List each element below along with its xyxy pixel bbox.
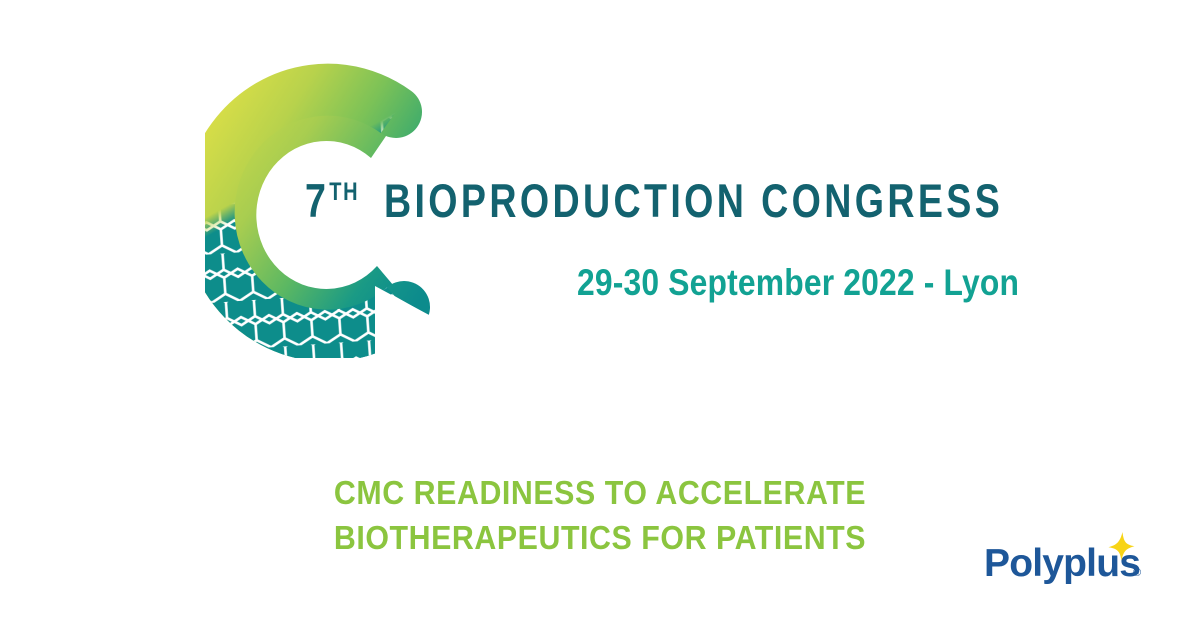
tagline-line-1: CMC READINESS TO ACCELERATE [48, 470, 1152, 515]
registered-trademark-symbol: ® [1133, 568, 1141, 579]
congress-title-block: 7TH BIOPRODUCTION CONGRESS 29-30 Septemb… [305, 166, 995, 227]
title-ordinal-suffix: TH [329, 178, 359, 206]
poster-canvas: 7TH BIOPRODUCTION CONGRESS 29-30 Septemb… [0, 0, 1200, 630]
title-ordinal: 7 [305, 174, 329, 227]
congress-date: 29-30 September 2022 - Lyon [577, 262, 1019, 304]
title-main: BIOPRODUCTION CONGRESS [384, 174, 1003, 227]
page-title: 7TH BIOPRODUCTION CONGRESS [305, 166, 857, 227]
polyplus-logo: Polyplus ® [980, 528, 1160, 590]
four-point-sparkle-icon [1100, 530, 1140, 570]
